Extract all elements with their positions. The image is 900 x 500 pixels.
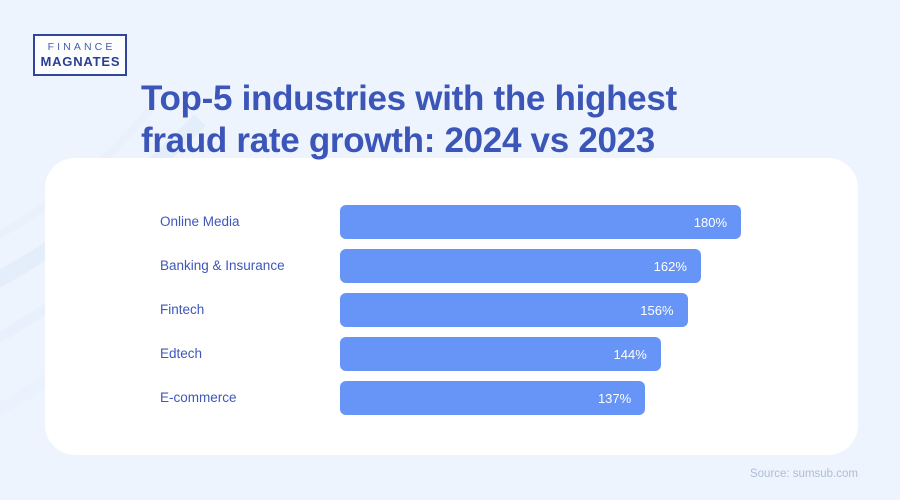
bar-category-label: Banking & Insurance — [160, 249, 285, 283]
bar-track: 137% — [340, 381, 645, 415]
bar-row: Banking & Insurance162% — [45, 249, 858, 283]
title-line-2: fraud rate growth: 2024 vs 2023 — [141, 120, 821, 162]
bar-category-label: Online Media — [160, 205, 240, 239]
page-title: Top-5 industries with the highest fraud … — [141, 78, 821, 162]
bar-row: Fintech156% — [45, 293, 858, 327]
bar-fill: 137% — [340, 381, 645, 415]
bar-value-label: 137% — [598, 391, 631, 406]
bar-value-label: 180% — [694, 215, 727, 230]
bar-track: 180% — [340, 205, 741, 239]
bar-value-label: 162% — [654, 259, 687, 274]
bar-row: E-commerce137% — [45, 381, 858, 415]
logo-line-finance: FINANCE — [45, 41, 116, 54]
horizontal-bar-chart: Online Media180%Banking & Insurance162%F… — [45, 158, 858, 455]
bar-value-label: 156% — [640, 303, 673, 318]
bar-fill: 156% — [340, 293, 688, 327]
logo-line-magnates: MAGNATES — [40, 54, 121, 69]
bar-track: 162% — [340, 249, 701, 283]
finance-magnates-logo: FINANCE MAGNATES — [33, 34, 127, 76]
bar-value-label: 144% — [614, 347, 647, 362]
source-note: Source: sumsub.com — [750, 468, 858, 480]
bar-category-label: Fintech — [160, 293, 204, 327]
bar-track: 144% — [340, 337, 661, 371]
bar-row: Edtech144% — [45, 337, 858, 371]
bar-row: Online Media180% — [45, 205, 858, 239]
infographic-canvas: FINANCE MAGNATES Top-5 industries with t… — [0, 0, 900, 500]
bar-fill: 144% — [340, 337, 661, 371]
title-line-1: Top-5 industries with the highest — [141, 78, 821, 120]
bar-category-label: E-commerce — [160, 381, 237, 415]
bar-track: 156% — [340, 293, 688, 327]
bar-category-label: Edtech — [160, 337, 202, 371]
chart-card: Online Media180%Banking & Insurance162%F… — [45, 158, 858, 455]
bar-fill: 162% — [340, 249, 701, 283]
bar-fill: 180% — [340, 205, 741, 239]
